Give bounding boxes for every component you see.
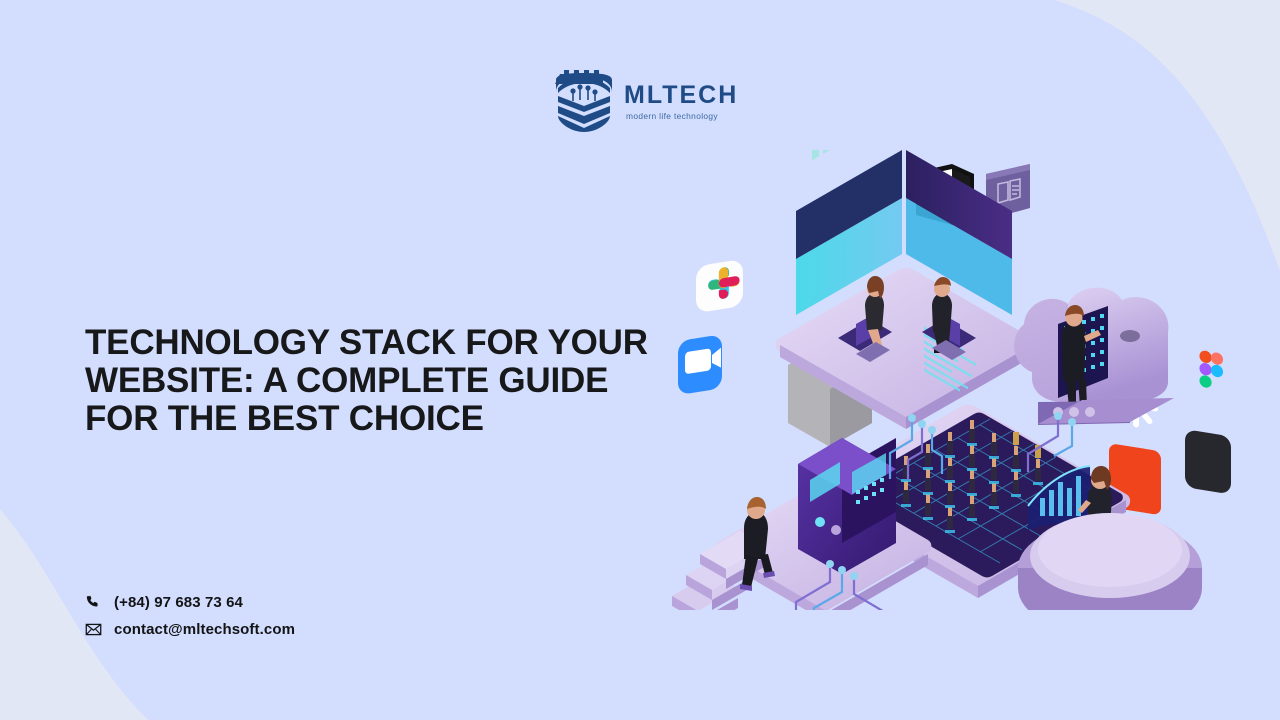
isometric-technology-stack-illustration (660, 150, 1280, 610)
headline-line-3: FOR THE BEST CHOICE (85, 400, 685, 438)
page-title: TECHNOLOGY STACK FOR YOUR WEBSITE: A COM… (85, 324, 685, 437)
contact-phone-text: (+84) 97 683 73 64 (114, 594, 243, 611)
stairs-platform (672, 438, 931, 610)
logo-name: MLTECH (624, 83, 738, 108)
contact-email-text: contact@mltechsoft.com (114, 621, 295, 638)
logo-tagline: modern life technology (626, 112, 738, 120)
cloud-platform (1014, 288, 1174, 425)
contact-phone-row[interactable]: (+84) 97 683 73 64 (85, 594, 295, 611)
headline-line-2: WEBSITE: A COMPLETE GUIDE (85, 362, 685, 400)
figma-icon (1185, 350, 1231, 495)
logo-wordmark: MLTECH modern life technology (624, 77, 738, 120)
banner-canvas: MLTECH modern life technology TECHNOLOGY… (0, 0, 1280, 720)
envelope-icon (85, 621, 102, 638)
headline-line-1: TECHNOLOGY STACK FOR YOUR (85, 324, 685, 362)
contact-block: (+84) 97 683 73 64 contact@mltechsoft.co… (85, 594, 295, 638)
phone-icon (85, 594, 102, 611)
slack-icon (696, 259, 743, 313)
zoom-icon (678, 334, 722, 395)
mltech-gear-shield-logo-icon (553, 66, 615, 132)
contact-email-row[interactable]: contact@mltechsoft.com (85, 621, 295, 638)
brand-logo[interactable]: MLTECH modern life technology (553, 66, 738, 132)
